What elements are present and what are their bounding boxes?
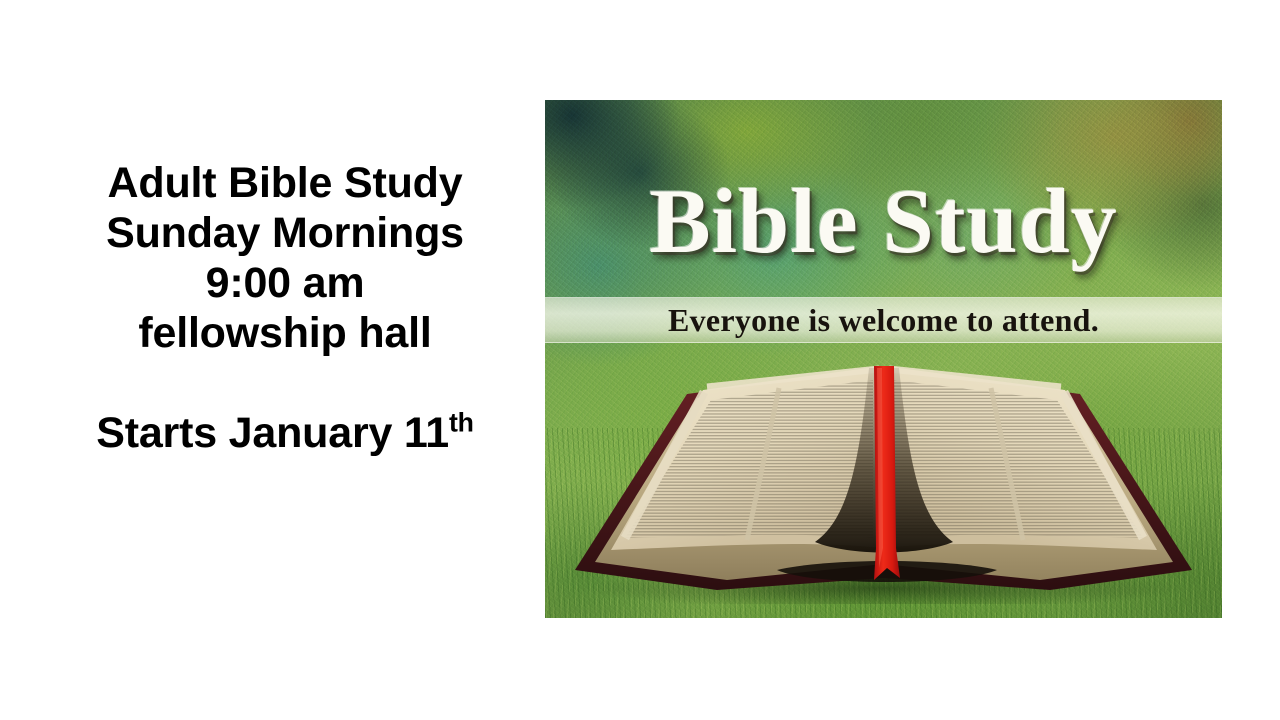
- announcement-line-2: Sunday Mornings: [40, 208, 530, 258]
- bible-study-image: Bible Study Everyone is welcome to atten…: [545, 100, 1222, 618]
- announcement-text-block: Adult Bible Study Sunday Mornings 9:00 a…: [40, 158, 530, 458]
- announcement-line-3: 9:00 am: [40, 258, 530, 308]
- announcement-line-1: Adult Bible Study: [40, 158, 530, 208]
- image-welcome-banner: Everyone is welcome to attend.: [545, 297, 1222, 343]
- image-welcome-text: Everyone is welcome to attend.: [668, 304, 1099, 336]
- start-date-ordinal-suffix: th: [449, 408, 474, 438]
- image-title-bible-study: Bible Study: [545, 175, 1222, 267]
- start-date-line: Starts January 11th: [40, 408, 530, 458]
- start-date-text: Starts January 11: [96, 409, 449, 457]
- open-bible-illustration: [567, 342, 1200, 604]
- announcement-line-4: fellowship hall: [40, 308, 530, 358]
- slide-canvas: Adult Bible Study Sunday Mornings 9:00 a…: [0, 0, 1280, 720]
- announcement-spacer: [40, 358, 530, 408]
